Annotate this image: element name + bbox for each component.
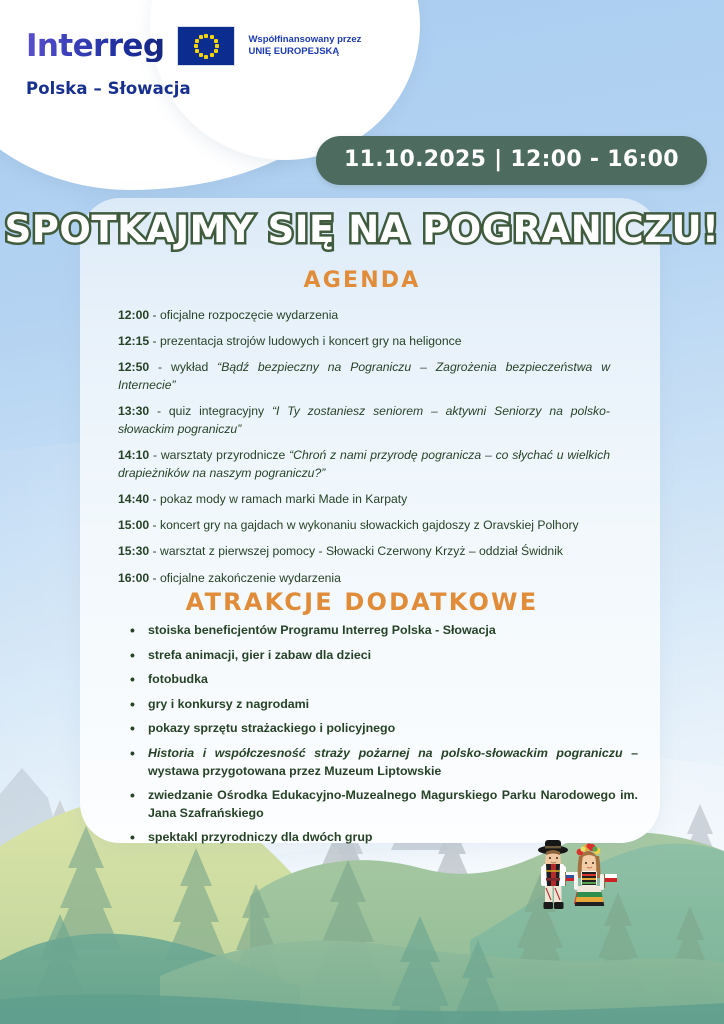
list-item-text: pokazy sprzętu strażackiego i policyjneg…: [148, 721, 395, 735]
list-item: zwiedzanie Ośrodka Edukacyjno-Muzealnego…: [148, 787, 638, 822]
list-item-text: gry i konkursy z nagrodami: [148, 697, 309, 711]
agenda-item-text: warsztaty przyrodnicze: [161, 448, 289, 462]
list-item: Historia i współczesność straży pożarnej…: [148, 745, 638, 780]
eu-star-icon: [210, 53, 214, 57]
eu-star-icon: [214, 49, 218, 53]
agenda-item-time: 14:40: [118, 492, 149, 506]
agenda-item-dash: -: [149, 448, 161, 462]
agenda-item-time: 12:50: [118, 360, 149, 374]
eu-star-icon: [204, 55, 208, 59]
polish-folk-girl: [574, 843, 617, 906]
agenda-item-time: 16:00: [118, 571, 149, 585]
agenda-item: 15:30 - warsztat z pierwszej pomocy - Sł…: [118, 542, 610, 560]
agenda-item-time: 14:10: [118, 448, 149, 462]
eu-star-icon: [199, 35, 203, 39]
folk-costume-couple: [524, 838, 620, 918]
agenda-item-time: 15:00: [118, 518, 149, 532]
eu-funding-caption: Współfinansowany przez UNIĘ EUROPEJSKĄ: [248, 34, 361, 57]
agenda-heading: AGENDA: [0, 268, 724, 293]
program-subtitle: Polska – Słowacja: [26, 79, 356, 98]
list-item: pokazy sprzętu strażackiego i policyjneg…: [148, 720, 638, 738]
agenda-item-dash: -: [149, 518, 160, 532]
program-logo-area: Interreg Współfinansowany przez UNIĘ EUR…: [26, 26, 356, 98]
agenda-item-text: quiz integracyjny: [169, 404, 272, 418]
agenda-item-dash: -: [149, 571, 160, 585]
agenda-item-time: 15:30: [118, 544, 149, 558]
agenda-item-dash: -: [149, 404, 169, 418]
date-time-banner: 11.10.2025 | 12:00 - 16:00: [316, 136, 707, 185]
eu-caption-line-1: Współfinansowany przez: [248, 34, 361, 46]
agenda-item-time: 13:30: [118, 404, 149, 418]
eu-star-icon: [194, 44, 198, 48]
slovak-folk-boy: [538, 840, 578, 909]
page-title: SPOTKAJMY SIĘ NA POGRANICZU!: [0, 208, 724, 251]
agenda-item-text: pokaz mody w ramach marki Made in Karpat…: [160, 492, 407, 506]
eu-star-icon: [215, 44, 219, 48]
agenda-item: 14:10 - warsztaty przyrodnicze “Chroń z …: [118, 446, 610, 482]
list-item: strefa animacji, gier i zabaw dla dzieci: [148, 647, 638, 665]
agenda-item: 14:40 - pokaz mody w ramach marki Made i…: [118, 490, 610, 508]
agenda-item: 12:00 - oficjalne rozpoczęcie wydarzenia: [118, 306, 610, 324]
extras-list: stoiska beneficjentów Programu Interreg …: [126, 622, 638, 854]
agenda-item-text: wykład: [171, 360, 217, 374]
agenda-item-text: warsztat z pierwszej pomocy - Słowacki C…: [160, 544, 563, 558]
agenda-item: 12:50 - wykład “Bądź bezpieczny na Pogra…: [118, 358, 610, 394]
agenda-item-text: prezentacja strojów ludowych i koncert g…: [160, 334, 461, 348]
agenda-item-dash: -: [149, 308, 160, 322]
eu-caption-line-2: UNIĘ EUROPEJSKĄ: [248, 46, 361, 58]
eu-star-icon: [195, 49, 199, 53]
eu-star-icon: [210, 35, 214, 39]
list-item-text: spektakl przyrodniczy dla dwóch grup: [148, 830, 372, 844]
list-item-text: strefa animacji, gier i zabaw dla dzieci: [148, 648, 371, 662]
list-item-text: zwiedzanie Ośrodka Edukacyjno-Muzealnego…: [148, 788, 638, 820]
list-item: stoiska beneficjentów Programu Interreg …: [148, 622, 638, 640]
agenda-item: 12:15 - prezentacja strojów ludowych i k…: [118, 332, 610, 350]
agenda-item-text: koncert gry na gajdach w wykonaniu słowa…: [160, 518, 579, 532]
interreg-wordmark: Interreg: [26, 31, 164, 62]
list-item-text: fotobudka: [148, 672, 208, 686]
agenda-item-text: oficjalne zakończenie wydarzenia: [160, 571, 341, 585]
agenda-item: 15:00 - koncert gry na gajdach w wykonan…: [118, 516, 610, 534]
eu-star-icon: [195, 39, 199, 43]
eu-star-icon: [204, 34, 208, 38]
list-item: fotobudka: [148, 671, 638, 689]
agenda-list: 12:00 - oficjalne rozpoczęcie wydarzenia…: [118, 306, 610, 595]
agenda-item-time: 12:15: [118, 334, 149, 348]
agenda-item-dash: -: [149, 334, 160, 348]
eu-star-icon: [199, 53, 203, 57]
agenda-item-time: 12:00: [118, 308, 149, 322]
list-item: gry i konkursy z nagrodami: [148, 696, 638, 714]
agenda-item-dash: -: [149, 544, 160, 558]
event-poster: Interreg Współfinansowany przez UNIĘ EUR…: [0, 0, 724, 1024]
agenda-item-dash: -: [149, 492, 160, 506]
eu-flag-icon: [177, 26, 235, 66]
list-item-quote: Historia i współczesność straży pożarnej…: [148, 746, 631, 760]
agenda-item-text: oficjalne rozpoczęcie wydarzenia: [160, 308, 338, 322]
agenda-item: 16:00 - oficjalne zakończenie wydarzenia: [118, 569, 610, 587]
extras-heading: ATRAKCJE DODATKOWE: [0, 588, 724, 616]
agenda-item-dash: -: [149, 360, 171, 374]
agenda-item: 13:30 - quiz integracyjny “I Ty zostanie…: [118, 402, 610, 438]
list-item-text: stoiska beneficjentów Programu Interreg …: [148, 623, 496, 637]
eu-star-icon: [214, 39, 218, 43]
logo-row: Interreg Współfinansowany przez UNIĘ EUR…: [26, 26, 356, 66]
